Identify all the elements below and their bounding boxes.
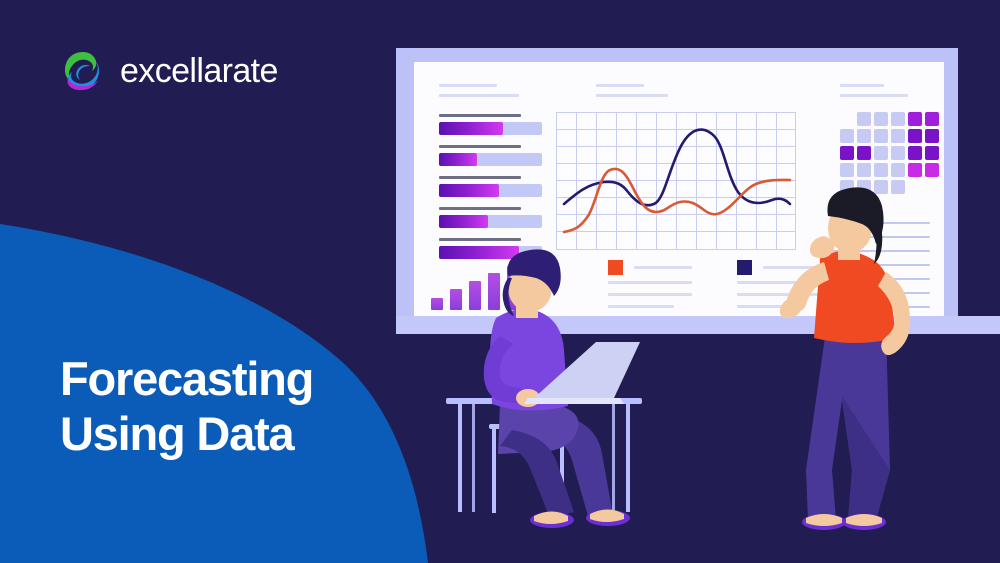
poster-canvas: Forecasting Using Data excellarate — [0, 0, 1000, 563]
title-line-2: Using Data — [60, 407, 420, 462]
title-line-1: Forecasting — [60, 352, 420, 407]
page-title: Forecasting Using Data — [60, 352, 420, 462]
brand-lockup[interactable]: excellarate — [60, 48, 278, 94]
swirl-logo-icon — [60, 48, 106, 94]
brand-wordmark: excellarate — [120, 54, 278, 88]
seated-person-with-laptop — [484, 249, 640, 528]
standing-person-thinking — [780, 187, 910, 530]
